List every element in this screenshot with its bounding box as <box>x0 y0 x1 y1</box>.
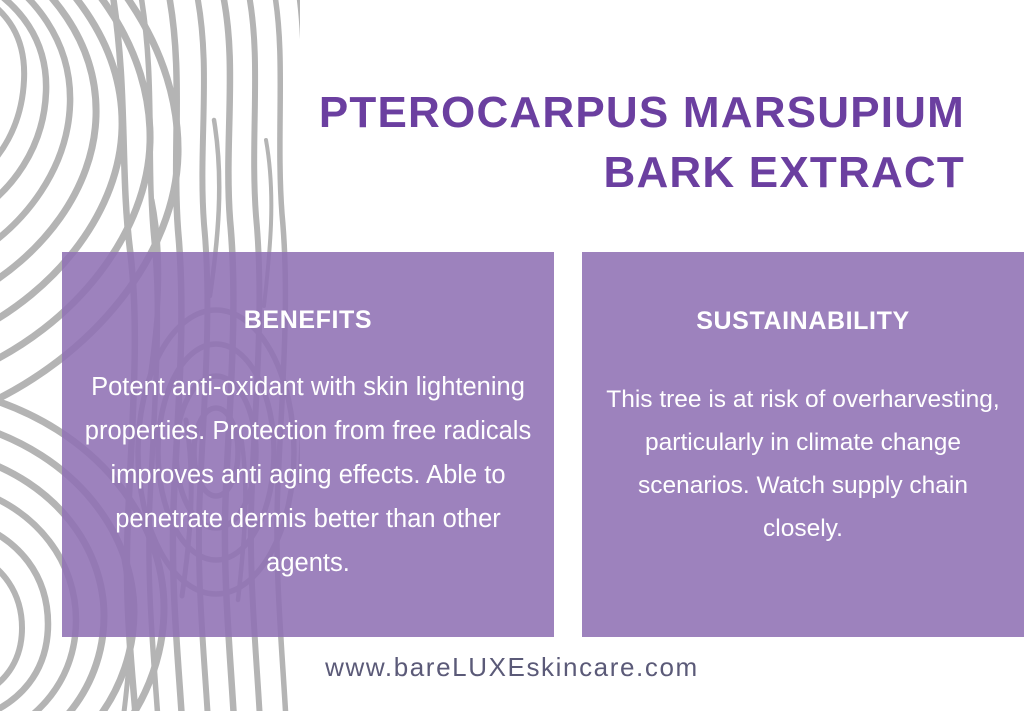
benefits-card: BENEFITS Potent anti-oxidant with skin l… <box>62 252 554 637</box>
sustainability-card: SUSTAINABILITY This tree is at risk of o… <box>582 252 1024 637</box>
page-title-line-1: PTEROCARPUS MARSUPIUM <box>265 83 965 143</box>
benefits-card-body: Potent anti-oxidant with skin lightening… <box>76 365 540 585</box>
page-title-line-2: BARK EXTRACT <box>265 143 965 203</box>
poster-canvas: PTEROCARPUS MARSUPIUM BARK EXTRACT BENEF… <box>0 0 1024 711</box>
footer: www.bareLUXEskincare.com <box>0 652 1024 683</box>
website-url: www.bareLUXEskincare.com <box>325 652 699 682</box>
benefits-card-heading: BENEFITS <box>76 306 540 335</box>
sustainability-card-heading: SUSTAINABILITY <box>596 307 1010 336</box>
sustainability-card-body: This tree is at risk of overharvesting, … <box>596 378 1010 550</box>
page-title: PTEROCARPUS MARSUPIUM BARK EXTRACT <box>265 83 965 203</box>
